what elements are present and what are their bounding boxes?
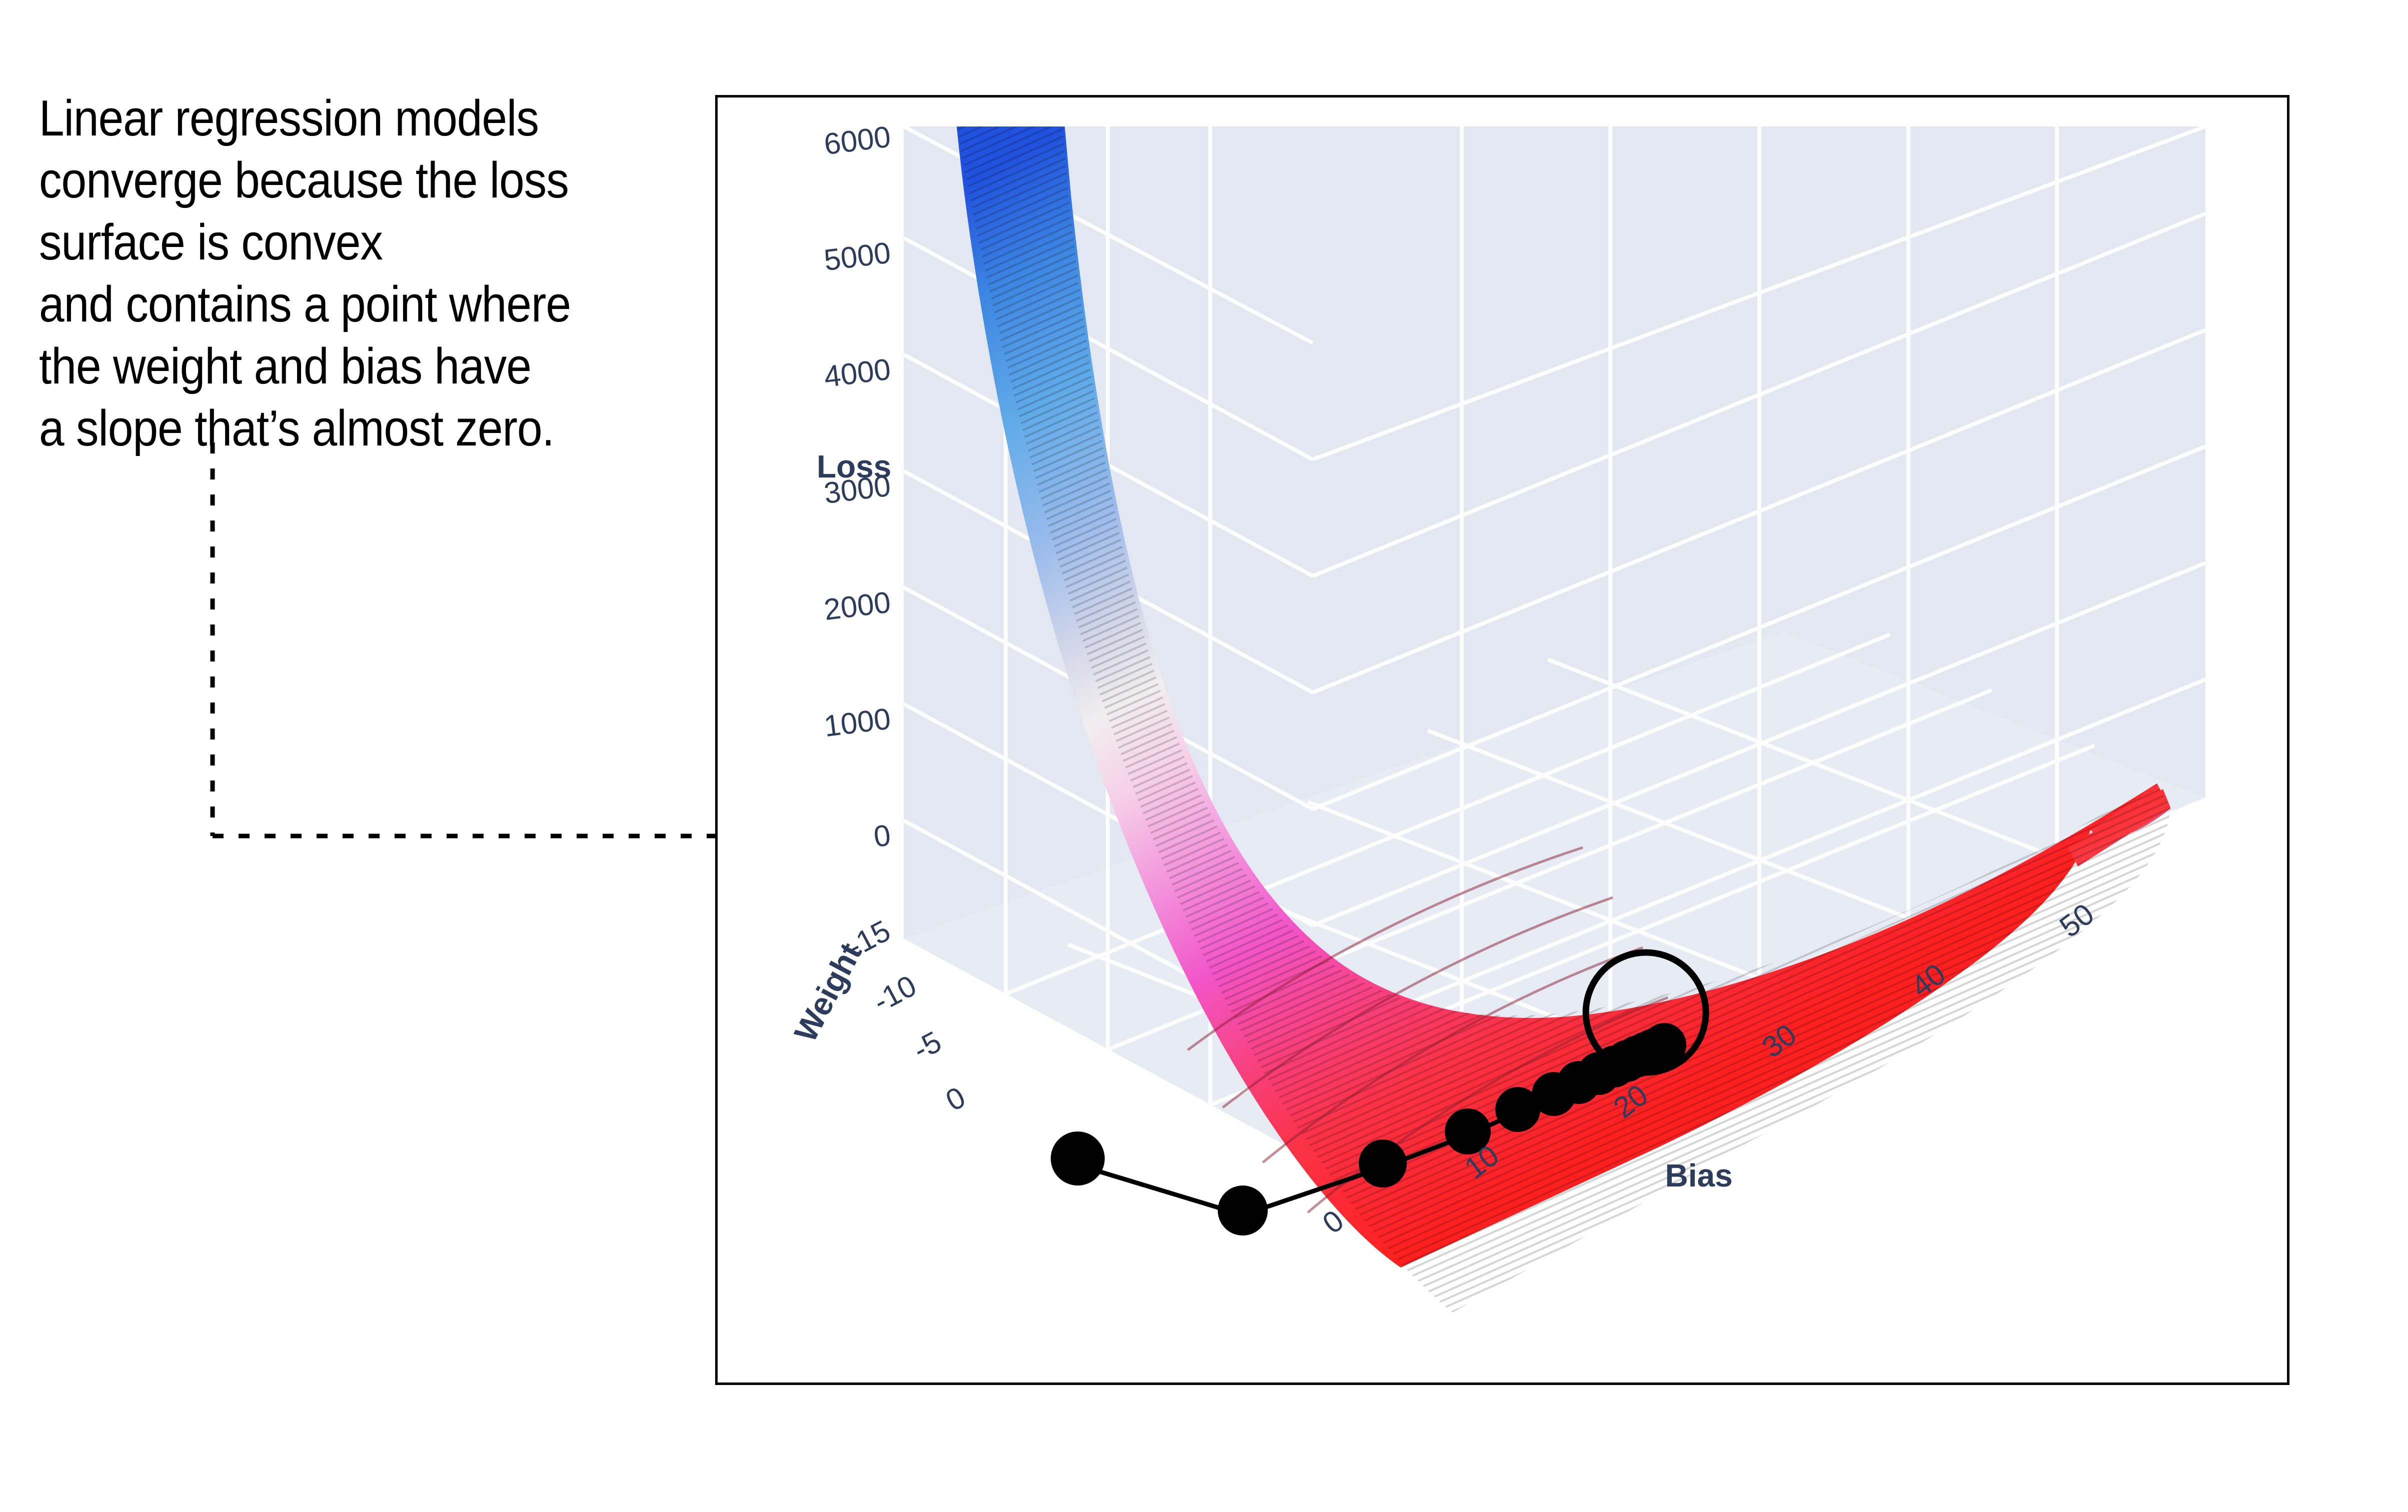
x-axis-title: Bias [1665,1157,1732,1193]
y-tick--10: -10 [868,968,922,1018]
y-tick--5: -5 [908,1024,947,1066]
z-tick-6000: 6000 [822,119,893,161]
y-axis-title: Weight [787,937,869,1047]
trajectory-point [1359,1139,1407,1187]
trajectory-point [1218,1185,1268,1235]
z-tick-0: 0 [872,818,892,853]
loss-surface-3d-plot: 6000 5000 4000 3000 2000 1000 0 Loss -15… [718,97,2292,1387]
z-tick-4000: 4000 [822,352,893,393]
figure-frame: 6000 5000 4000 3000 2000 1000 0 Loss -15… [715,95,2289,1385]
z-tick-1000: 1000 [822,701,893,743]
annotation-text: Linear regression models converge becaus… [39,87,606,459]
y-tick-0: 0 [940,1080,971,1117]
z-tick-2000: 2000 [822,585,893,626]
z-tick-5000: 5000 [822,235,893,277]
z-axis-ticks: 6000 5000 4000 3000 2000 1000 0 [822,119,893,853]
trajectory-point [1051,1131,1105,1185]
z-axis-title: Loss [817,448,891,484]
